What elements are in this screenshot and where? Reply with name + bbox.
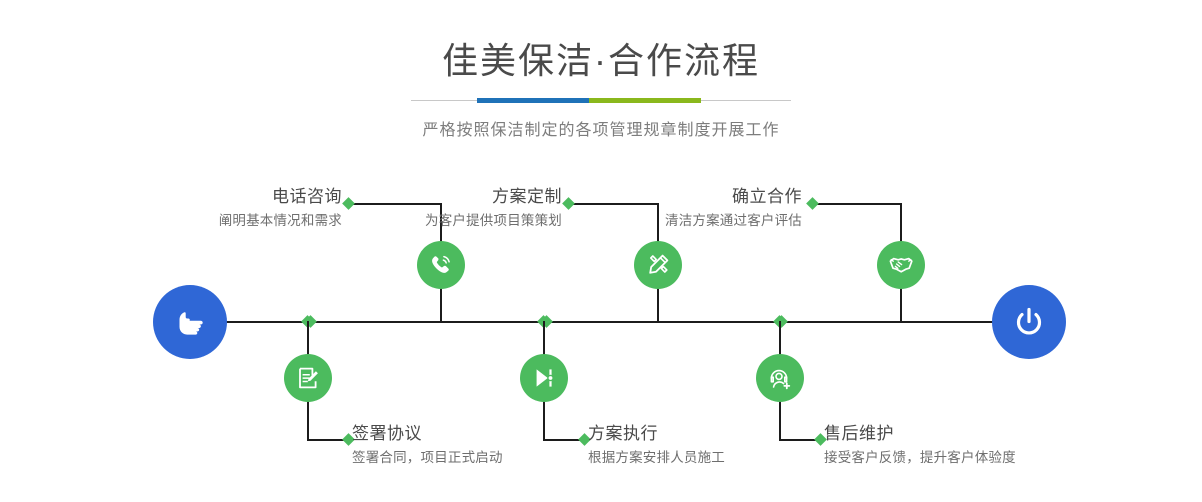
- step-icon-badge[interactable]: [284, 354, 332, 402]
- step-label: 方案定制 为客户提供项目策策划: [330, 186, 562, 231]
- step-label: 电话咨询 阐明基本情况和需求: [110, 186, 342, 231]
- step-label: 售后维护 接受客户反馈，提升客户体验度: [824, 423, 1114, 468]
- pencil-ruler-icon: [644, 251, 672, 279]
- step-description: 根据方案安排人员施工: [588, 445, 848, 468]
- pointing-hand-icon: [170, 302, 210, 342]
- timeline-start-node[interactable]: [153, 285, 227, 359]
- step-title: 签署协议: [352, 423, 612, 445]
- step-description: 阐明基本情况和需求: [110, 208, 342, 231]
- timeline-axis: [170, 321, 1032, 323]
- step-label: 方案执行 根据方案安排人员施工: [588, 423, 848, 468]
- timeline-end-node[interactable]: [992, 285, 1066, 359]
- handshake-icon: [887, 251, 915, 279]
- step-title: 方案执行: [588, 423, 848, 445]
- step-description: 签署合同，项目正式启动: [352, 445, 612, 468]
- label-marker-diamond: [806, 197, 819, 210]
- step-icon-badge[interactable]: [756, 354, 804, 402]
- step-description: 为客户提供项目策策划: [330, 208, 562, 231]
- cooperation-process-infographic: 佳美保洁·合作流程 严格按照保洁制定的各项管理规章制度开展工作: [0, 0, 1202, 502]
- step-title: 电话咨询: [110, 186, 342, 208]
- step-title: 确立合作: [570, 186, 802, 208]
- step-label: 签署协议 签署合同，项目正式启动: [352, 423, 612, 468]
- power-icon: [1009, 302, 1049, 342]
- step-icon-badge[interactable]: [877, 241, 925, 289]
- process-timeline: 电话咨询 阐明基本情况和需求 签署协议 签署合同，: [0, 0, 1202, 502]
- step-icon-badge[interactable]: [520, 354, 568, 402]
- customer-service-add-icon: [766, 364, 794, 392]
- connector-horizontal: [812, 203, 901, 205]
- step-icon-badge[interactable]: [417, 241, 465, 289]
- step-description: 接受客户反馈，提升客户体验度: [824, 445, 1114, 468]
- step-title: 售后维护: [824, 423, 1114, 445]
- phone-call-icon: [427, 251, 455, 279]
- step-title: 方案定制: [330, 186, 562, 208]
- step-description: 清洁方案通过客户评估: [570, 208, 802, 231]
- step-label: 确立合作 清洁方案通过客户评估: [570, 186, 802, 231]
- step-icon-badge[interactable]: [634, 241, 682, 289]
- document-edit-icon: [294, 364, 322, 392]
- play-execute-icon: [530, 364, 558, 392]
